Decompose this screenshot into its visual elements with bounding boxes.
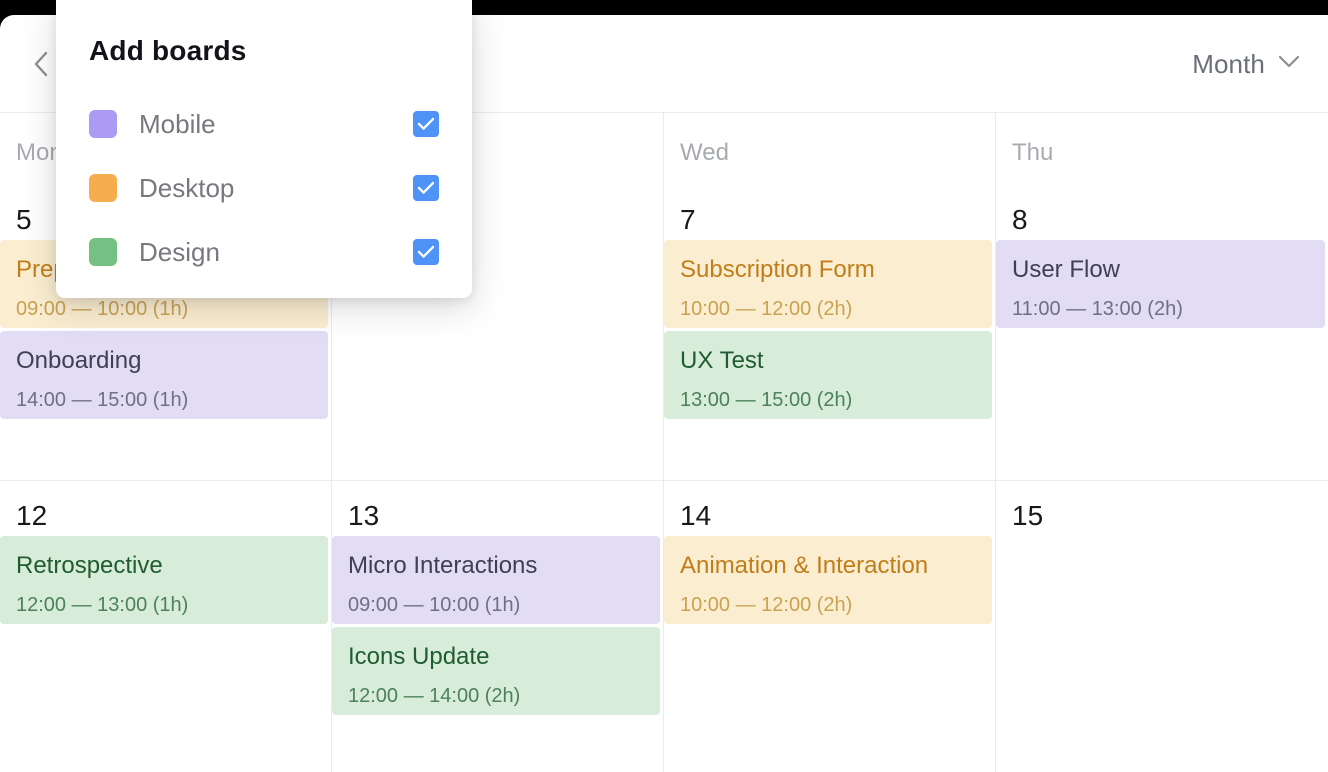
day-number: 15 — [996, 481, 1328, 536]
weekday-label: Wed — [664, 113, 996, 185]
event-title: Onboarding — [16, 347, 312, 375]
event-time: 10:00 — 12:00 (2h) — [680, 298, 976, 320]
event-time: 09:00 — 10:00 (1h) — [16, 298, 312, 320]
day-number: 8 — [996, 185, 1328, 240]
window-corner-mask — [0, 0, 40, 40]
check-icon — [417, 245, 435, 259]
day-number: 14 — [664, 481, 995, 536]
event-card[interactable]: Onboarding14:00 — 15:00 (1h) — [0, 331, 328, 419]
check-icon — [417, 181, 435, 195]
day-cell[interactable]: 15 — [996, 481, 1328, 772]
board-color-swatch — [89, 110, 117, 138]
event-title: User Flow — [1012, 256, 1309, 284]
board-row[interactable]: Design — [56, 220, 472, 284]
event-time: 09:00 — 10:00 (1h) — [348, 594, 644, 616]
view-mode-label: Month — [1192, 49, 1265, 80]
board-checkbox[interactable] — [413, 111, 439, 137]
event-title: Animation & Interaction — [680, 552, 976, 580]
event-time: 12:00 — 14:00 (2h) — [348, 685, 644, 707]
event-card[interactable]: Micro Interactions09:00 — 10:00 (1h) — [332, 536, 660, 624]
event-title: UX Test — [680, 347, 976, 375]
day-cell[interactable]: 14Animation & Interaction10:00 — 12:00 (… — [664, 481, 996, 772]
day-number: 12 — [0, 481, 331, 536]
day-events: Animation & Interaction10:00 — 12:00 (2h… — [664, 536, 995, 624]
event-card[interactable]: Animation & Interaction10:00 — 12:00 (2h… — [664, 536, 992, 624]
screen: Month MonTueWedThu 5Prep Sync09:00 — 10:… — [0, 0, 1328, 772]
event-card[interactable]: UX Test13:00 — 15:00 (2h) — [664, 331, 992, 419]
day-number: 13 — [332, 481, 663, 536]
day-cell[interactable]: 12Retrospective12:00 — 13:00 (1h) — [0, 481, 332, 772]
popover-title: Add boards — [56, 0, 472, 67]
event-title: Subscription Form — [680, 256, 976, 284]
day-number: 7 — [664, 185, 995, 240]
board-checkbox[interactable] — [413, 239, 439, 265]
event-time: 12:00 — 13:00 (1h) — [16, 594, 312, 616]
event-card[interactable]: Subscription Form10:00 — 12:00 (2h) — [664, 240, 992, 328]
chevron-down-icon — [1278, 55, 1300, 73]
view-mode-dropdown[interactable]: Month — [1192, 45, 1300, 83]
event-time: 13:00 — 15:00 (2h) — [680, 389, 976, 411]
board-list: MobileDesktopDesign — [56, 92, 472, 284]
day-cell[interactable]: 7Subscription Form10:00 — 12:00 (2h)UX T… — [664, 185, 996, 480]
board-checkbox[interactable] — [413, 175, 439, 201]
event-card[interactable]: User Flow11:00 — 13:00 (2h) — [996, 240, 1325, 328]
board-color-swatch — [89, 238, 117, 266]
board-row[interactable]: Mobile — [56, 92, 472, 156]
calendar-week-row: 12Retrospective12:00 — 13:00 (1h)13Micro… — [0, 481, 1328, 772]
board-row[interactable]: Desktop — [56, 156, 472, 220]
board-label: Mobile — [139, 109, 413, 140]
event-title: Icons Update — [348, 643, 644, 671]
event-title: Retrospective — [16, 552, 312, 580]
add-boards-popover: Add boards MobileDesktopDesign — [56, 0, 472, 298]
weekday-label: Thu — [996, 113, 1328, 185]
day-cell[interactable]: 13Micro Interactions09:00 — 10:00 (1h)Ic… — [332, 481, 664, 772]
day-events: Subscription Form10:00 — 12:00 (2h)UX Te… — [664, 240, 995, 419]
day-events: User Flow11:00 — 13:00 (2h) — [996, 240, 1328, 328]
previous-period-button[interactable] — [24, 46, 58, 82]
board-label: Design — [139, 237, 413, 268]
chevron-left-icon — [33, 51, 49, 77]
board-color-swatch — [89, 174, 117, 202]
event-title: Micro Interactions — [348, 552, 644, 580]
event-time: 11:00 — 13:00 (2h) — [1012, 298, 1309, 320]
event-card[interactable]: Retrospective12:00 — 13:00 (1h) — [0, 536, 328, 624]
day-events: Retrospective12:00 — 13:00 (1h) — [0, 536, 331, 624]
event-time: 10:00 — 12:00 (2h) — [680, 594, 976, 616]
day-cell[interactable]: 8User Flow11:00 — 13:00 (2h) — [996, 185, 1328, 480]
check-icon — [417, 117, 435, 131]
board-label: Desktop — [139, 173, 413, 204]
event-card[interactable]: Icons Update12:00 — 14:00 (2h) — [332, 627, 660, 715]
event-time: 14:00 — 15:00 (1h) — [16, 389, 312, 411]
day-events: Micro Interactions09:00 — 10:00 (1h)Icon… — [332, 536, 663, 715]
